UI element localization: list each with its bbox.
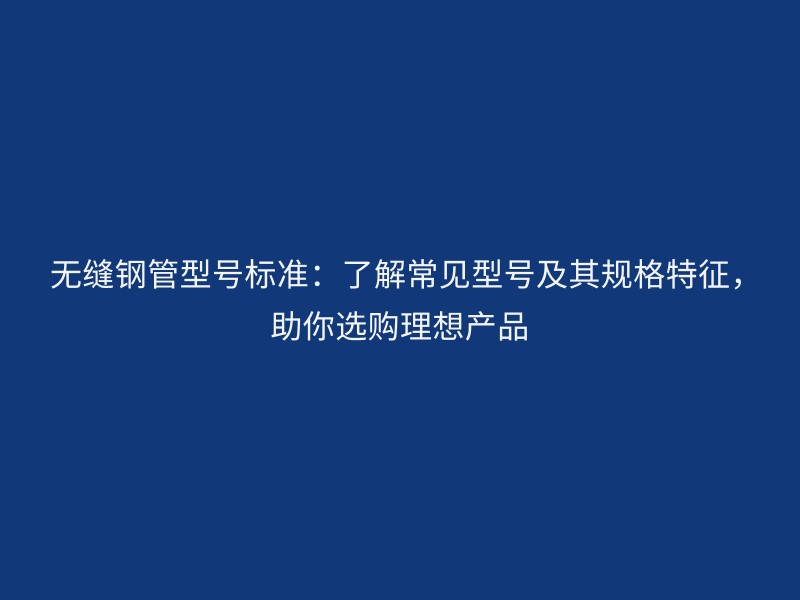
page-title-line-1: 无缝钢管型号标准：了解常见型号及其规格特征， [50, 249, 750, 301]
title-card-banner: 无缝钢管型号标准：了解常见型号及其规格特征， 助你选购理想产品 [0, 0, 800, 600]
page-title-line-2: 助你选购理想产品 [50, 301, 750, 353]
page-title: 无缝钢管型号标准：了解常见型号及其规格特征， 助你选购理想产品 [50, 249, 750, 353]
